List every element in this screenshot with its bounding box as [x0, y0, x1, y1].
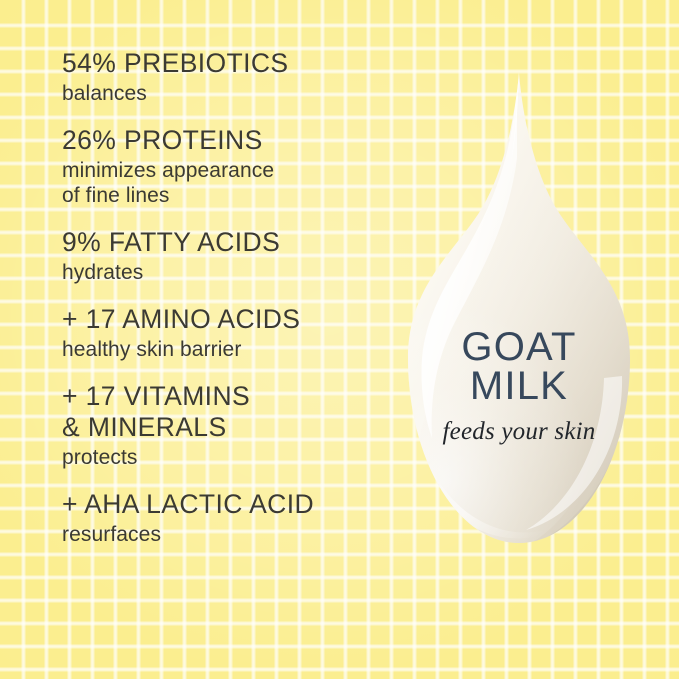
ingredient-headline: + 17 VITAMINS & MINERALS: [62, 381, 382, 443]
ingredient-headline: 54% PREBIOTICS: [62, 48, 382, 79]
ingredient-benefit: protects: [62, 445, 382, 470]
ingredient-item-fatty-acids: 9% FATTY ACIDS hydrates: [62, 227, 382, 285]
ingredient-headline: + 17 AMINO ACIDS: [62, 304, 382, 335]
ingredient-benefit: resurfaces: [62, 522, 382, 547]
ingredient-benefit: balances: [62, 81, 382, 106]
ingredient-headline: 9% FATTY ACIDS: [62, 227, 382, 258]
ingredient-headline: 26% PROTEINS: [62, 125, 382, 156]
ingredient-list: 54% PREBIOTICS balances 26% PROTEINS min…: [62, 48, 382, 547]
ingredient-item-proteins: 26% PROTEINS minimizes appearance of fin…: [62, 125, 382, 208]
ingredient-item-vitamins-minerals: + 17 VITAMINS & MINERALS protects: [62, 381, 382, 470]
milk-droplet-icon: [386, 58, 652, 558]
ingredient-benefit: minimizes appearance of fine lines: [62, 158, 382, 208]
ingredient-benefit: hydrates: [62, 260, 382, 285]
ingredient-item-aha-lactic-acid: + AHA LACTIC ACID resurfaces: [62, 489, 382, 547]
ingredient-headline: + AHA LACTIC ACID: [62, 489, 382, 520]
ingredient-benefit: healthy skin barrier: [62, 337, 382, 362]
ingredient-item-amino-acids: + 17 AMINO ACIDS healthy skin barrier: [62, 304, 382, 362]
ingredient-item-prebiotics: 54% PREBIOTICS balances: [62, 48, 382, 106]
milk-droplet-graphic: GOAT MILK feeds your skin: [386, 58, 652, 558]
infographic-canvas: 54% PREBIOTICS balances 26% PROTEINS min…: [0, 0, 679, 679]
